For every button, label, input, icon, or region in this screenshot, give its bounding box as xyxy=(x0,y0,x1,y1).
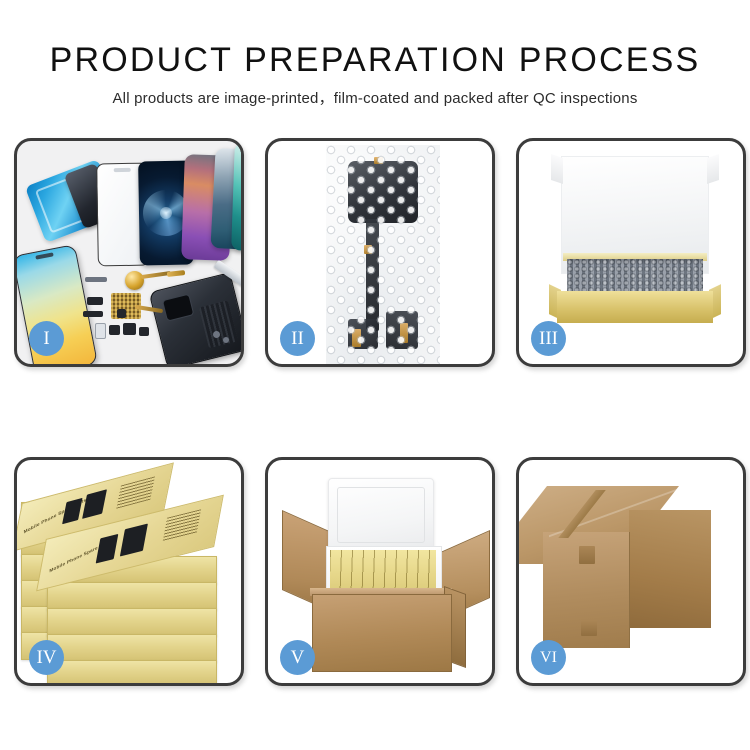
step-2-badge: II xyxy=(280,321,315,356)
step-2-badge-label: II xyxy=(291,329,304,348)
step-6-badge: VI xyxy=(531,640,566,675)
gold-speaker-disc-icon xyxy=(125,271,144,290)
step-panel-1[interactable]: I xyxy=(14,138,244,367)
grey-bubble-wrapped-contents-icon xyxy=(567,259,703,295)
step-panel-3[interactable]: III xyxy=(516,138,746,367)
step-3-badge: III xyxy=(531,321,566,356)
step-panel-4[interactable]: Mobile Phone Spare Parts Mobile Phone Sp… xyxy=(14,457,244,686)
step-panel-6[interactable]: VI xyxy=(516,457,746,686)
stacked-box xyxy=(47,634,217,662)
component-chip xyxy=(83,311,103,317)
phone-back-housing-icon xyxy=(149,272,244,367)
component-bar xyxy=(85,277,107,282)
carton-right-face-icon xyxy=(629,510,711,628)
carton-body-icon xyxy=(312,594,452,672)
stacked-box xyxy=(47,660,217,686)
step-5-badge-label: V xyxy=(291,648,305,667)
box-window xyxy=(82,489,107,519)
component-chip xyxy=(87,297,103,305)
bubble-texture xyxy=(326,145,440,366)
box-spec-text-block xyxy=(163,509,201,541)
component-camera xyxy=(117,309,126,318)
component-screw xyxy=(223,337,229,343)
component-battery xyxy=(95,323,106,339)
component-screw xyxy=(213,331,220,338)
step-3-badge-label: III xyxy=(539,329,558,348)
stacked-box xyxy=(47,608,217,636)
step-4-badge-label: IV xyxy=(36,648,56,667)
carton-flap-tab xyxy=(579,546,595,564)
step-5-badge: V xyxy=(280,640,315,675)
bubble-wrap-bag-icon xyxy=(326,145,440,366)
box-spec-text-block xyxy=(116,476,155,508)
step-panel-2[interactable]: II xyxy=(265,138,495,367)
page-subtitle: All products are image-printed，film-coat… xyxy=(0,87,750,108)
step-panel-5[interactable]: V xyxy=(265,457,495,686)
box-window xyxy=(62,498,82,524)
step-6-badge-label: VI xyxy=(540,650,557,666)
process-step-grid: I II xyxy=(0,138,750,698)
component-gold-contact xyxy=(167,270,185,277)
component-screw-set xyxy=(139,327,149,336)
component-bracket xyxy=(109,325,120,335)
stacked-box xyxy=(47,582,217,610)
foam-box-lid-icon xyxy=(328,478,434,554)
kraft-box-front-icon xyxy=(557,291,713,323)
step-1-badge: I xyxy=(29,321,64,356)
step-1-badge-label: I xyxy=(43,329,49,348)
step-4-badge: IV xyxy=(29,640,64,675)
component-bracket xyxy=(123,323,136,335)
page-title: PRODUCT PREPARATION PROCESS xyxy=(0,41,750,80)
box-window xyxy=(96,534,119,564)
carton-flap-tab xyxy=(581,620,597,636)
box-window xyxy=(120,524,148,557)
page-header: PRODUCT PREPARATION PROCESS All products… xyxy=(0,0,750,120)
glass-notch-icon xyxy=(114,168,131,172)
